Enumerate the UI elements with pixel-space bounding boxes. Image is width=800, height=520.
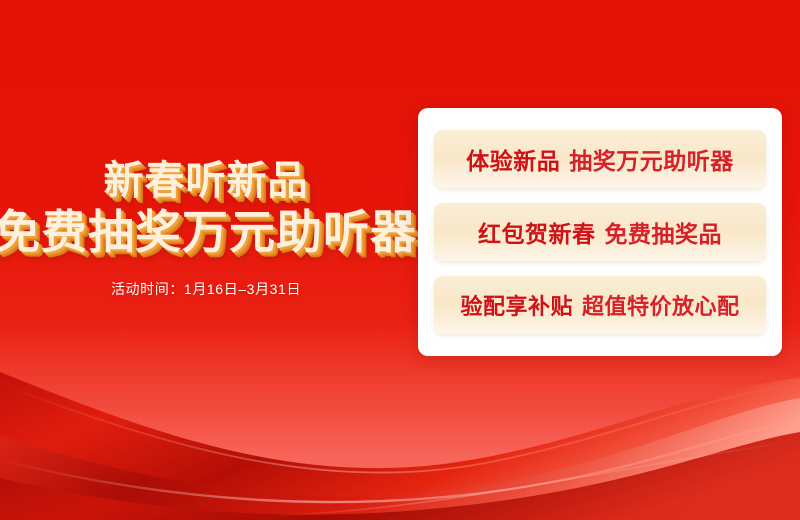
corner-accent-bottom-right-icon [769, 343, 791, 365]
offer-pill[interactable]: 验配享补贴 超值特价放心配 [434, 276, 766, 334]
offer-pill-light-text: 免费抽奖品 [605, 215, 723, 249]
corner-accent-top-right-icon [769, 99, 791, 121]
headline-line-2: 免费抽奖万元助听器 [0, 208, 412, 257]
offer-pill-strong-text: 验配享补贴 [460, 289, 573, 321]
offer-pill-light-text: 抽奖万元助听器 [569, 142, 734, 176]
campaign-date-label: 活动时间：1月16日–3月31日 [0, 279, 412, 299]
offer-pill-strong-text: 体验新品 [466, 142, 560, 176]
corner-accent-top-left-icon [409, 99, 431, 121]
headline-block: 新春听新品 免费抽奖万元助听器 活动时间：1月16日–3月31日 [0, 160, 412, 299]
offer-pill[interactable]: 体验新品 抽奖万元助听器 [434, 130, 766, 188]
headline-line-1: 新春听新品 [0, 160, 412, 202]
offer-pill-light-text: 超值特价放心配 [582, 289, 740, 321]
offer-pill[interactable]: 红包贺新春 免费抽奖品 [434, 203, 766, 261]
offer-pill-strong-text: 红包贺新春 [478, 215, 596, 249]
offer-card: 体验新品 抽奖万元助听器 红包贺新春 免费抽奖品 验配享补贴 超值特价放心配 [418, 108, 782, 356]
corner-accent-bottom-left-icon [409, 343, 431, 365]
promo-banner: 新春听新品 免费抽奖万元助听器 活动时间：1月16日–3月31日 体验新品 抽奖… [0, 0, 800, 520]
silk-wave-decoration [0, 340, 800, 520]
